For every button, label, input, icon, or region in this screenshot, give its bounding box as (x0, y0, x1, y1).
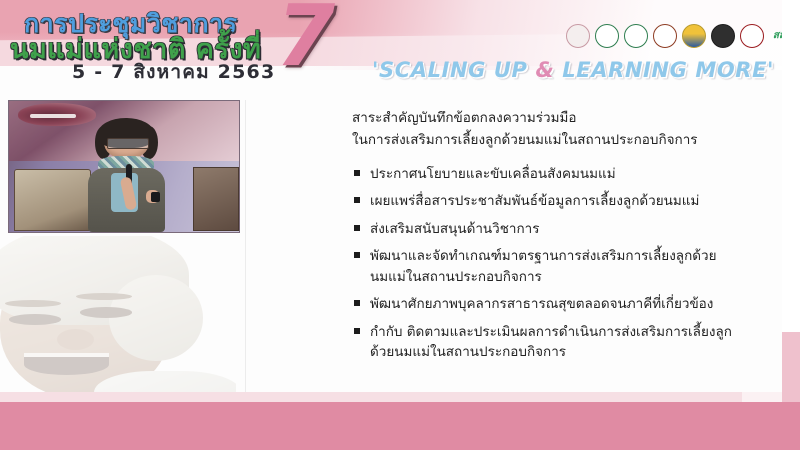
tagline-part-post: LEARNING MORE' (554, 58, 774, 82)
baby-eye-left (9, 314, 61, 325)
tagline-ampersand: & (535, 58, 554, 82)
speaker-glasses (107, 138, 149, 149)
stage-chair-left (14, 169, 92, 231)
content-heading-line2: ในการส่งเสริมการเลี้ยงลูกด้วยนมแม่ในสถาน… (352, 130, 732, 152)
content-heading: สาระสำคัญบันทึกข้อตกลงความร่วมมือ ในการส… (352, 108, 732, 152)
baby-hat-brim (109, 275, 203, 360)
list-item: พัฒนาศักยภาพบุคลากรสาธารณสุขตลอดจนภาคีที… (352, 294, 732, 315)
list-item-label: ประกาศนโยบายและขับเคลื่อนสังคมนมแม่ (370, 166, 616, 182)
backdrop-tooth-detail (30, 114, 76, 118)
list-item-label: พัฒนาศักยภาพบุคลากรสาธารณสุขตลอดจนภาคีที… (370, 296, 713, 312)
right-edge-white (782, 0, 800, 332)
black-circle-logo (711, 24, 735, 48)
bullet-square-icon (354, 328, 360, 334)
list-item: เผยแพร่สื่อสารประชาสัมพันธ์ข้อมูลการเลี้… (352, 191, 732, 212)
bullet-square-icon (354, 225, 360, 231)
list-item-label: เผยแพร่สื่อสารประชาสัมพันธ์ข้อมูลการเลี้… (370, 193, 699, 209)
stage-chair-right (193, 167, 239, 232)
list-item-label: พัฒนาและจัดทำเกณฑ์มาตรฐานการส่งเสริมการเ… (370, 248, 717, 285)
footer-corner-strip (742, 392, 782, 402)
bullet-square-icon (354, 300, 360, 306)
red-crest-logo (740, 24, 764, 48)
baby-eye-right (80, 307, 132, 318)
list-item: พัฒนาและจัดทำเกณฑ์มาตรฐานการส่งเสริมการเ… (352, 246, 732, 287)
garuda-emblem-logo (682, 24, 706, 48)
bullet-square-icon (354, 252, 360, 258)
baby-nose (57, 329, 95, 350)
tagline-part-pre: 'SCALING UP (372, 58, 536, 82)
slide-content-area: สาระสำคัญบันทึกข้อตกลงความร่วมมือ ในการส… (352, 108, 732, 370)
conference-date-range: 5 - 7 สิงหาคม 2563 (72, 57, 275, 87)
list-item-label: กำกับ ติดตามและประเมินผลการดำเนินการส่งเ… (370, 324, 732, 361)
right-edge-pink (782, 332, 800, 402)
footer-pink-bar (0, 402, 800, 450)
public-health-logo (624, 24, 648, 48)
baby-illustration (0, 236, 236, 414)
list-item: ประกาศนโยบายและขับเคลื่อนสังคมนมแม่ (352, 164, 732, 185)
presentation-slide: การประชุมวิชาการ นมแม่แห่งชาติ ครั้งที่ … (0, 0, 800, 450)
baby-eyebrow-right (76, 293, 133, 300)
slide-header-banner: การประชุมวิชาการ นมแม่แห่งชาติ ครั้งที่ … (0, 0, 800, 94)
list-item: ส่งเสริมสนับสนุนด้านวิชาการ (352, 219, 732, 240)
royal-seal-logo (566, 24, 590, 48)
baby-watermark-image (0, 236, 236, 414)
list-item: กำกับ ติดตามและประเมินผลการดำเนินการส่งเ… (352, 322, 732, 363)
sponsor-logo-row: สสส (566, 24, 795, 48)
health-ministry-logo (595, 24, 619, 48)
thai-emblem-logo (653, 24, 677, 48)
bullet-square-icon (354, 197, 360, 203)
column-divider (245, 100, 246, 400)
baby-smile (24, 353, 109, 374)
speaker-video-panel (8, 100, 240, 233)
speaker-figure (83, 122, 170, 232)
list-item-label: ส่งเสริมสนับสนุนด้านวิชาการ (370, 221, 539, 237)
content-bullet-list: ประกาศนโยบายและขับเคลื่อนสังคมนมแม่ เผยแ… (352, 164, 732, 363)
speaker-clicker-device (151, 192, 161, 202)
bullet-square-icon (354, 170, 360, 176)
conference-edition-number: 7 (276, 0, 335, 79)
conference-tagline: 'SCALING UP & LEARNING MORE' (358, 58, 788, 82)
footer-light-band (0, 392, 742, 402)
content-heading-line1: สาระสำคัญบันทึกข้อตกลงความร่วมมือ (352, 108, 732, 130)
